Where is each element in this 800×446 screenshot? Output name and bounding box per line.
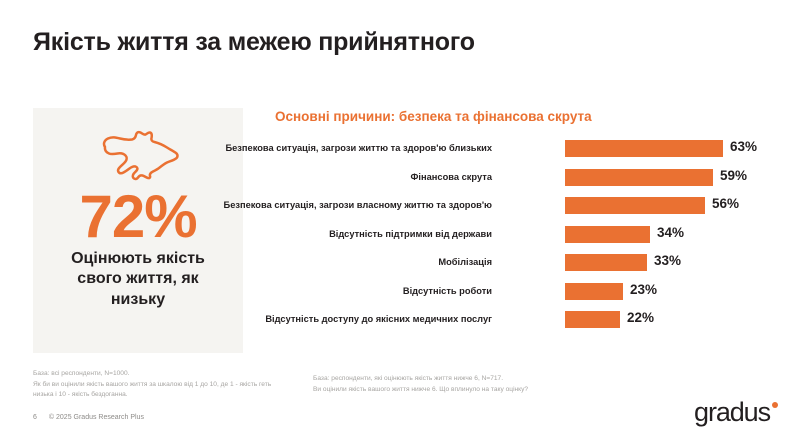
bar-row: Фінансова скрута 59% [270, 169, 790, 198]
copyright-text: © 2025 Gradus Research Plus [49, 414, 144, 421]
bar-fill [565, 283, 623, 300]
logo-dot-icon [772, 402, 778, 408]
bar-value-label: 33% [654, 253, 681, 268]
bar-category-label: Мобілізація [192, 257, 492, 267]
bar-fill [565, 140, 723, 157]
bar-fill [565, 254, 647, 271]
bar-value-label: 22% [627, 310, 654, 325]
bar-chart: Безпекова ситуація, загрози життю та здо… [270, 140, 790, 352]
bar-fill [565, 311, 620, 328]
bar-row: Відсутність доступу до якісних медичних … [270, 311, 790, 340]
bar-track [565, 283, 623, 300]
ukraine-map-outline-icon [93, 124, 183, 182]
bar-row: Безпекова ситуація, загрози власному жит… [270, 197, 790, 226]
bar-row: Мобілізація 33% [270, 254, 790, 283]
bar-track [565, 140, 723, 157]
gradus-logo: gradus [694, 399, 778, 426]
stat-value: 72% [79, 186, 196, 247]
bar-row: Відсутність підтримки від держави 34% [270, 226, 790, 255]
footnote-left: База: всі респонденти, N=1000. Як би ви … [33, 369, 293, 401]
bar-row: Безпекова ситуація, загрози життю та здо… [270, 140, 790, 169]
bar-track [565, 311, 620, 328]
bar-category-label: Фінансова скрута [192, 172, 492, 182]
footer: 6 © 2025 Gradus Research Plus [33, 414, 144, 421]
bar-value-label: 63% [730, 139, 757, 154]
page-number: 6 [33, 414, 37, 421]
bar-value-label: 34% [657, 225, 684, 240]
bar-track [565, 169, 713, 186]
bar-value-label: 23% [630, 282, 657, 297]
bar-category-label: Відсутність доступу до якісних медичних … [192, 314, 492, 324]
bar-fill [565, 197, 705, 214]
bar-value-label: 56% [712, 196, 739, 211]
bar-category-label: Безпекова ситуація, загрози власному жит… [192, 200, 492, 210]
bar-track [565, 226, 650, 243]
footnote-right: База: респонденти, які оцінюють якість ж… [313, 374, 613, 395]
logo-wordmark: gradus [694, 399, 770, 426]
bar-category-label: Безпекова ситуація, загрози життю та здо… [192, 143, 492, 153]
bar-row: Відсутність роботи 23% [270, 283, 790, 312]
bar-track [565, 197, 705, 214]
bar-category-label: Відсутність підтримки від держави [192, 229, 492, 239]
chart-title: Основні причини: безпека та фінансова ск… [275, 109, 592, 124]
bar-category-label: Відсутність роботи [192, 286, 492, 296]
bar-fill [565, 169, 713, 186]
bar-fill [565, 226, 650, 243]
slide: Якість життя за межею прийнятного 72% Оц… [0, 0, 800, 446]
page-title: Якість життя за межею прийнятного [33, 28, 475, 57]
bar-track [565, 254, 647, 271]
bar-value-label: 59% [720, 168, 747, 183]
